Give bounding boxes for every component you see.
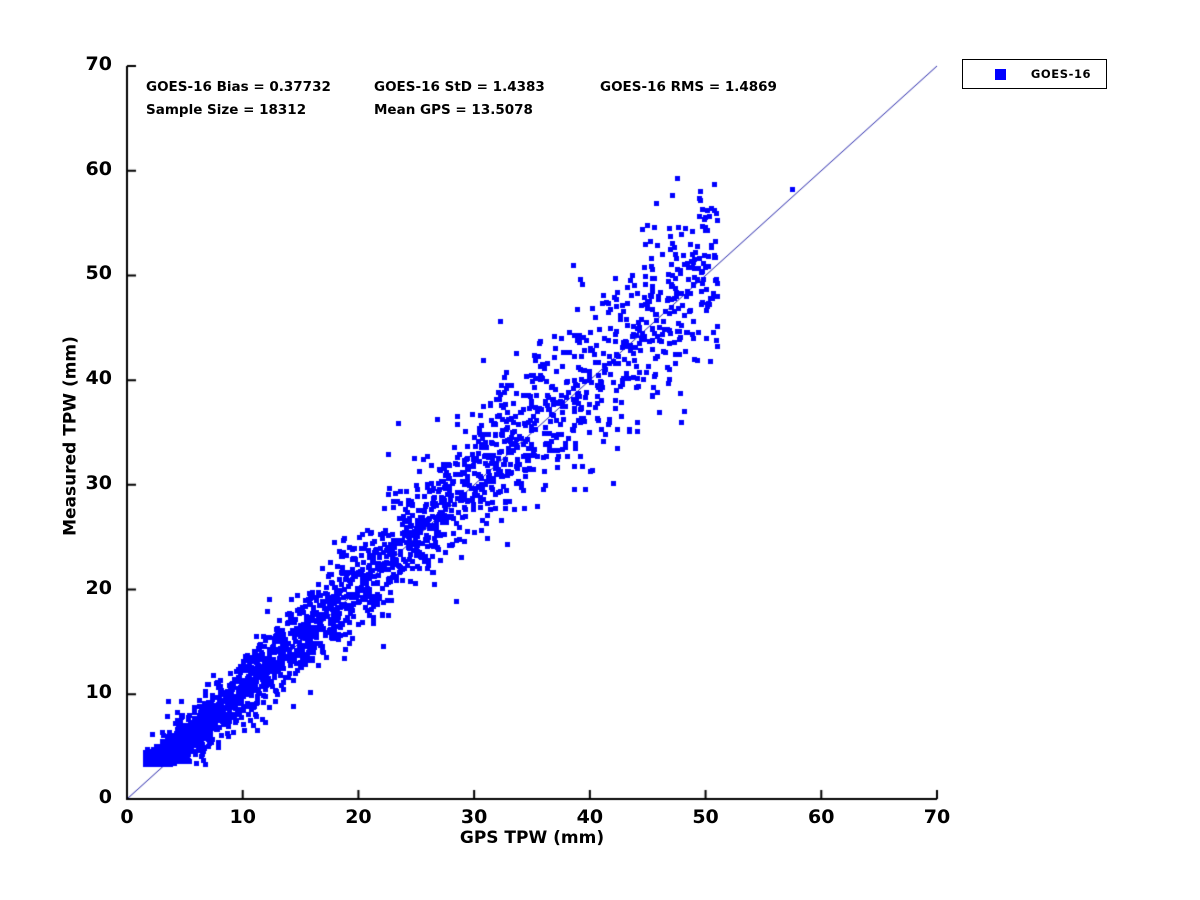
x-tick-label-30: 30: [444, 806, 504, 828]
x-tick-label-50: 50: [676, 806, 736, 828]
x-tick-label-40: 40: [560, 806, 620, 828]
y-tick-label-40: 40: [52, 367, 112, 389]
annotation-sample-size: Sample Size = 18312: [146, 102, 306, 118]
legend-marker-icon: [995, 69, 1006, 80]
y-tick-label-60: 60: [52, 158, 112, 180]
x-axis-label: GPS TPW (mm): [127, 828, 937, 848]
scatter-plot-canvas: [0, 0, 1200, 900]
y-tick-label-10: 10: [52, 681, 112, 703]
annotation-std: GOES-16 StD = 1.4383: [374, 79, 545, 95]
annotation-rms: GOES-16 RMS = 1.4869: [600, 79, 777, 95]
annotation-bias: GOES-16 Bias = 0.37732: [146, 79, 331, 95]
x-tick-label-10: 10: [213, 806, 273, 828]
legend-label-goes16: GOES-16: [1025, 67, 1097, 81]
y-tick-label-0: 0: [52, 786, 112, 808]
legend: GOES-16: [962, 59, 1107, 89]
x-tick-label-60: 60: [791, 806, 851, 828]
y-tick-label-50: 50: [52, 262, 112, 284]
scatter-plot-figure: Weekly Comparison to GPS over Meso 2 201…: [0, 0, 1200, 900]
y-tick-label-20: 20: [52, 577, 112, 599]
y-tick-label-70: 70: [52, 53, 112, 75]
x-tick-label-20: 20: [328, 806, 388, 828]
x-tick-label-70: 70: [907, 806, 967, 828]
y-tick-label-30: 30: [52, 472, 112, 494]
annotation-mean-gps: Mean GPS = 13.5078: [374, 102, 533, 118]
x-tick-label-0: 0: [97, 806, 157, 828]
